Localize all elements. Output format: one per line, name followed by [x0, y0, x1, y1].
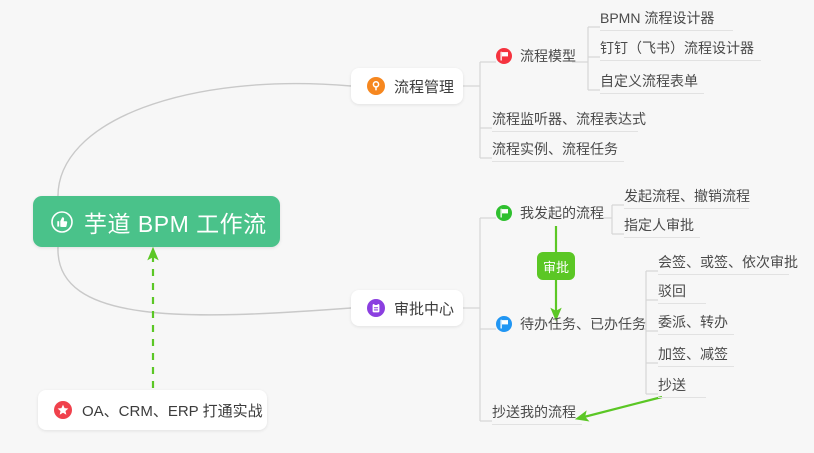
leaf-label-add-remove-sign: 加签、减签 — [658, 346, 728, 362]
thumbs-up-icon — [51, 211, 73, 233]
flag-icon — [496, 316, 512, 332]
clipboard-icon — [367, 299, 385, 317]
leaf-label-process-model: 流程模型 — [520, 48, 576, 64]
wire-root-to-process-mgmt — [58, 84, 351, 199]
leaf-label-my-initiated-process: 我发起的流程 — [520, 205, 604, 221]
leaf-dingtalk-feishu-designer[interactable]: 钉钉（飞书）流程设计器 — [600, 40, 761, 61]
wire-root-to-approval-center — [58, 247, 351, 315]
branch-node-process-mgmt[interactable]: 流程管理 — [351, 68, 463, 104]
leaf-todo-done-tasks[interactable]: 待办任务、已办任务 — [496, 313, 634, 335]
leaf-my-initiated-process[interactable]: 我发起的流程 — [496, 202, 598, 224]
leaf-multi-sign-approval[interactable]: 会签、或签、依次审批 — [658, 254, 789, 275]
flag-icon — [496, 48, 512, 64]
leaf-label-todo-done-tasks: 待办任务、已办任务 — [520, 316, 646, 332]
leaf-process-model[interactable]: 流程模型 — [496, 45, 572, 67]
branch-label-approval-center: 审批中心 — [394, 298, 454, 319]
callout-integration-practice[interactable]: OA、CRM、ERP 打通实战 — [38, 390, 267, 430]
leaf-label-custom-process-form: 自定义流程表单 — [600, 73, 698, 89]
leaf-label-assignee-approval: 指定人审批 — [624, 217, 694, 233]
leaf-custom-process-form[interactable]: 自定义流程表单 — [600, 73, 704, 94]
leaf-process-listener-expression[interactable]: 流程监听器、流程表达式 — [492, 111, 638, 132]
root-node[interactable]: 芋道 BPM 工作流 — [33, 196, 280, 247]
leaf-assignee-approval[interactable]: 指定人审批 — [624, 217, 700, 238]
leaf-label-multi-sign-approval: 会签、或签、依次审批 — [658, 254, 798, 270]
leaf-label-process-listener-expression: 流程监听器、流程表达式 — [492, 111, 646, 127]
branch-label-process-mgmt: 流程管理 — [394, 76, 454, 97]
approval-badge[interactable]: 审批 — [537, 252, 575, 280]
star-icon — [54, 401, 72, 419]
branch-node-approval-center[interactable]: 审批中心 — [351, 290, 463, 326]
flag-icon — [496, 205, 512, 221]
leaf-reject[interactable]: 驳回 — [658, 283, 706, 304]
leaf-delegate-transfer[interactable]: 委派、转办 — [658, 314, 734, 335]
leaf-add-remove-sign[interactable]: 加签、减签 — [658, 346, 734, 367]
arrow-cc-to-ccme — [580, 397, 662, 418]
approval-badge-label: 审批 — [543, 257, 569, 276]
leaf-label-cc: 抄送 — [658, 377, 686, 393]
leaf-bpmn-designer[interactable]: BPMN 流程设计器 — [600, 10, 733, 31]
leaf-label-delegate-transfer: 委派、转办 — [658, 314, 728, 330]
leaf-label-reject: 驳回 — [658, 283, 686, 299]
leaf-label-process-instance-task: 流程实例、流程任务 — [492, 141, 618, 157]
leaf-start-cancel-process[interactable]: 发起流程、撤销流程 — [624, 188, 749, 209]
leaf-process-instance-task[interactable]: 流程实例、流程任务 — [492, 141, 624, 162]
location-pin-icon — [367, 77, 385, 95]
leaf-label-cc-to-me-process: 抄送我的流程 — [492, 404, 576, 420]
root-label: 芋道 BPM 工作流 — [84, 205, 267, 239]
leaf-label-bpmn-designer: BPMN 流程设计器 — [600, 10, 714, 26]
leaf-cc-to-me-process[interactable]: 抄送我的流程 — [492, 404, 582, 425]
leaf-label-dingtalk-feishu-designer: 钉钉（飞书）流程设计器 — [600, 40, 754, 56]
leaf-label-start-cancel-process: 发起流程、撤销流程 — [624, 188, 750, 204]
mindmap-canvas: 芋道 BPM 工作流 流程管理 审批中心 — [0, 0, 814, 453]
leaf-cc[interactable]: 抄送 — [658, 377, 706, 398]
callout-label: OA、CRM、ERP 打通实战 — [82, 400, 263, 421]
